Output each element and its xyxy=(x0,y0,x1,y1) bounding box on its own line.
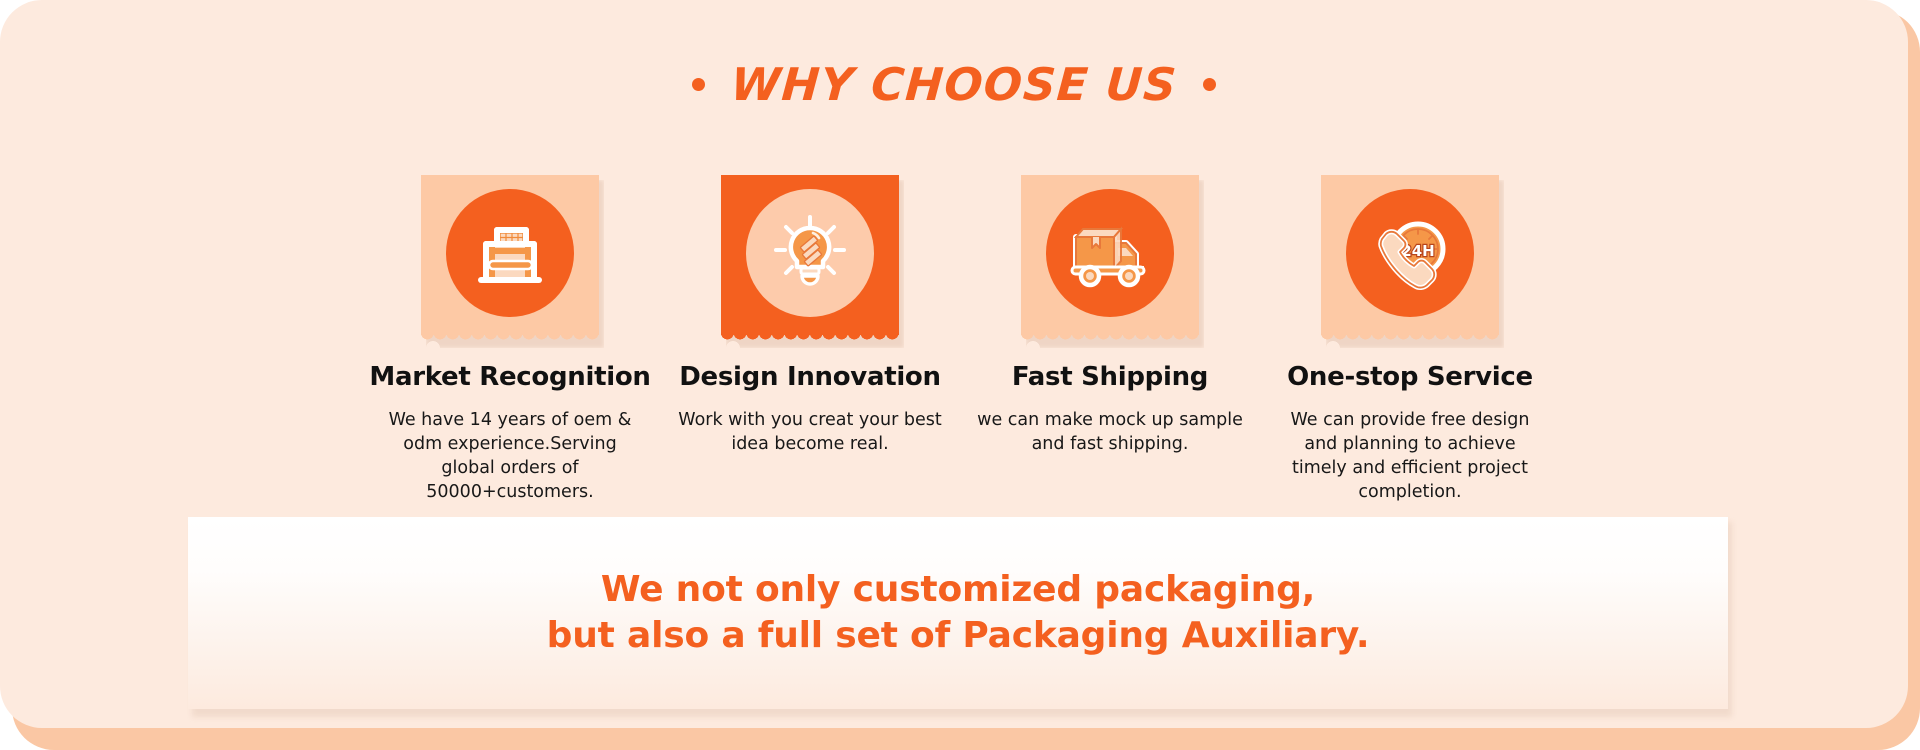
icon-disc xyxy=(1046,189,1174,317)
feature-card-fast-shipping[interactable]: Fast Shipping we can make mock up sample… xyxy=(960,175,1260,456)
stamp-frame: 24H xyxy=(1321,175,1499,343)
feature-card-design-innovation[interactable]: Design Innovation Work with you creat yo… xyxy=(660,175,960,456)
title-dot-left-icon xyxy=(692,78,705,91)
title-dot-right-icon xyxy=(1203,78,1216,91)
storefront-building-icon xyxy=(469,212,551,294)
feature-description: We have 14 years of oem & odm experience… xyxy=(375,408,645,505)
stamp-perforation-edge xyxy=(1021,333,1199,344)
page-title: WHY CHOOSE US xyxy=(729,58,1179,111)
stamp-perforation-edge xyxy=(1321,333,1499,344)
feature-title: Fast Shipping xyxy=(1012,362,1208,392)
feature-card-market-recognition[interactable]: Market Recognition We have 14 years of o… xyxy=(360,175,660,505)
phone-24h-support-icon: 24H xyxy=(1366,212,1454,294)
stamp-light: 24H xyxy=(1321,175,1499,343)
content-panel: WHY CHOOSE US xyxy=(0,0,1908,728)
section-title-row: WHY CHOOSE US xyxy=(0,58,1908,111)
feature-card-one-stop-service[interactable]: 24H One-stop Service We can provide free… xyxy=(1260,175,1560,505)
stamp-light xyxy=(1021,175,1199,343)
stamp-light xyxy=(421,175,599,343)
stamp-frame xyxy=(421,175,599,343)
icon-disc xyxy=(446,189,574,317)
stamp-dark xyxy=(721,175,899,343)
feature-description: Work with you creat your best idea becom… xyxy=(675,408,945,456)
icon-disc: 24H xyxy=(1346,189,1474,317)
stamp-perforation-edge xyxy=(421,333,599,344)
icon-disc xyxy=(746,189,874,317)
feature-title: Market Recognition xyxy=(369,362,650,392)
stamp-perforation-edge xyxy=(721,333,899,344)
stamp-frame xyxy=(1021,175,1199,343)
why-choose-us-section: WHY CHOOSE US xyxy=(0,0,1920,750)
promo-banner: We not only customized packaging, but al… xyxy=(188,517,1728,709)
feature-list: Market Recognition We have 14 years of o… xyxy=(360,175,1560,505)
feature-description: We can provide free design and planning … xyxy=(1275,408,1545,505)
feature-title: One-stop Service xyxy=(1287,362,1533,392)
delivery-truck-icon xyxy=(1066,217,1154,289)
stamp-frame xyxy=(721,175,899,343)
promo-banner-text: We not only customized packaging, but al… xyxy=(547,567,1370,659)
promo-line-1: We not only customized packaging, xyxy=(601,569,1315,610)
feature-description: we can make mock up sample and fast ship… xyxy=(975,408,1245,456)
feature-title: Design Innovation xyxy=(679,362,940,392)
lightbulb-idea-icon xyxy=(767,210,853,296)
promo-line-2: but also a full set of Packaging Auxilia… xyxy=(547,613,1370,659)
